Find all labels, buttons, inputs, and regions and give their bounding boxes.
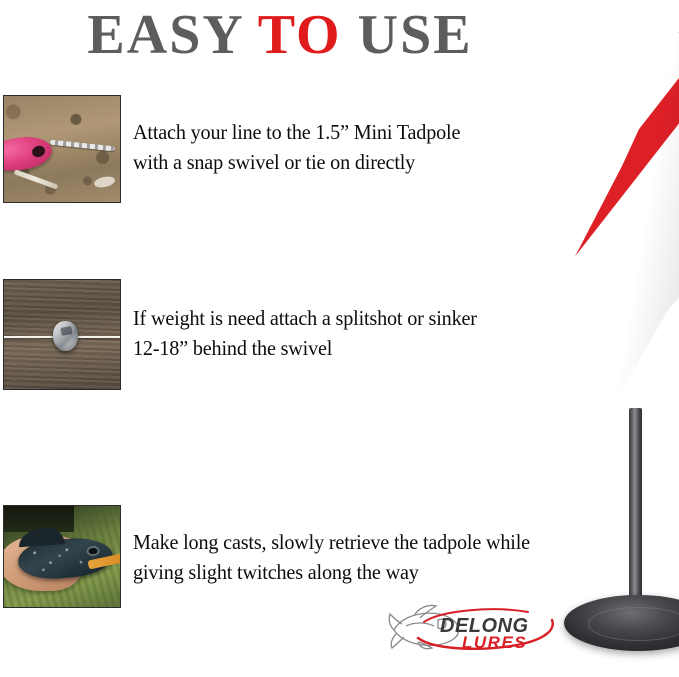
title-part-one: EASY [87, 4, 257, 66]
step-2-text: If weight is need attach a splitshot or … [133, 303, 477, 363]
flag-pole [629, 408, 642, 620]
american-flag-image [472, 0, 679, 440]
logo-brand-secondary: LURES [462, 633, 527, 652]
step-1-photo [3, 95, 121, 203]
splitshot-sinker [53, 321, 79, 350]
step-3-text: Make long casts, slowly retrieve the tad… [133, 527, 530, 587]
page-title: EASY TO USE [0, 4, 560, 66]
title-part-two: USE [342, 4, 473, 66]
step-2-photo [3, 279, 121, 390]
step-3-photo [3, 505, 121, 608]
delong-lures-logo: DELONG LURES [388, 600, 560, 652]
step-1-text: Attach your line to the 1.5” Mini Tadpol… [133, 117, 460, 177]
flag-pole-base [564, 595, 679, 651]
twig [14, 169, 59, 190]
pebble [94, 174, 116, 188]
snap-swivel-chain [50, 139, 115, 151]
product-infographic: EASY TO USE [0, 0, 679, 677]
title-highlight: TO [258, 4, 342, 66]
